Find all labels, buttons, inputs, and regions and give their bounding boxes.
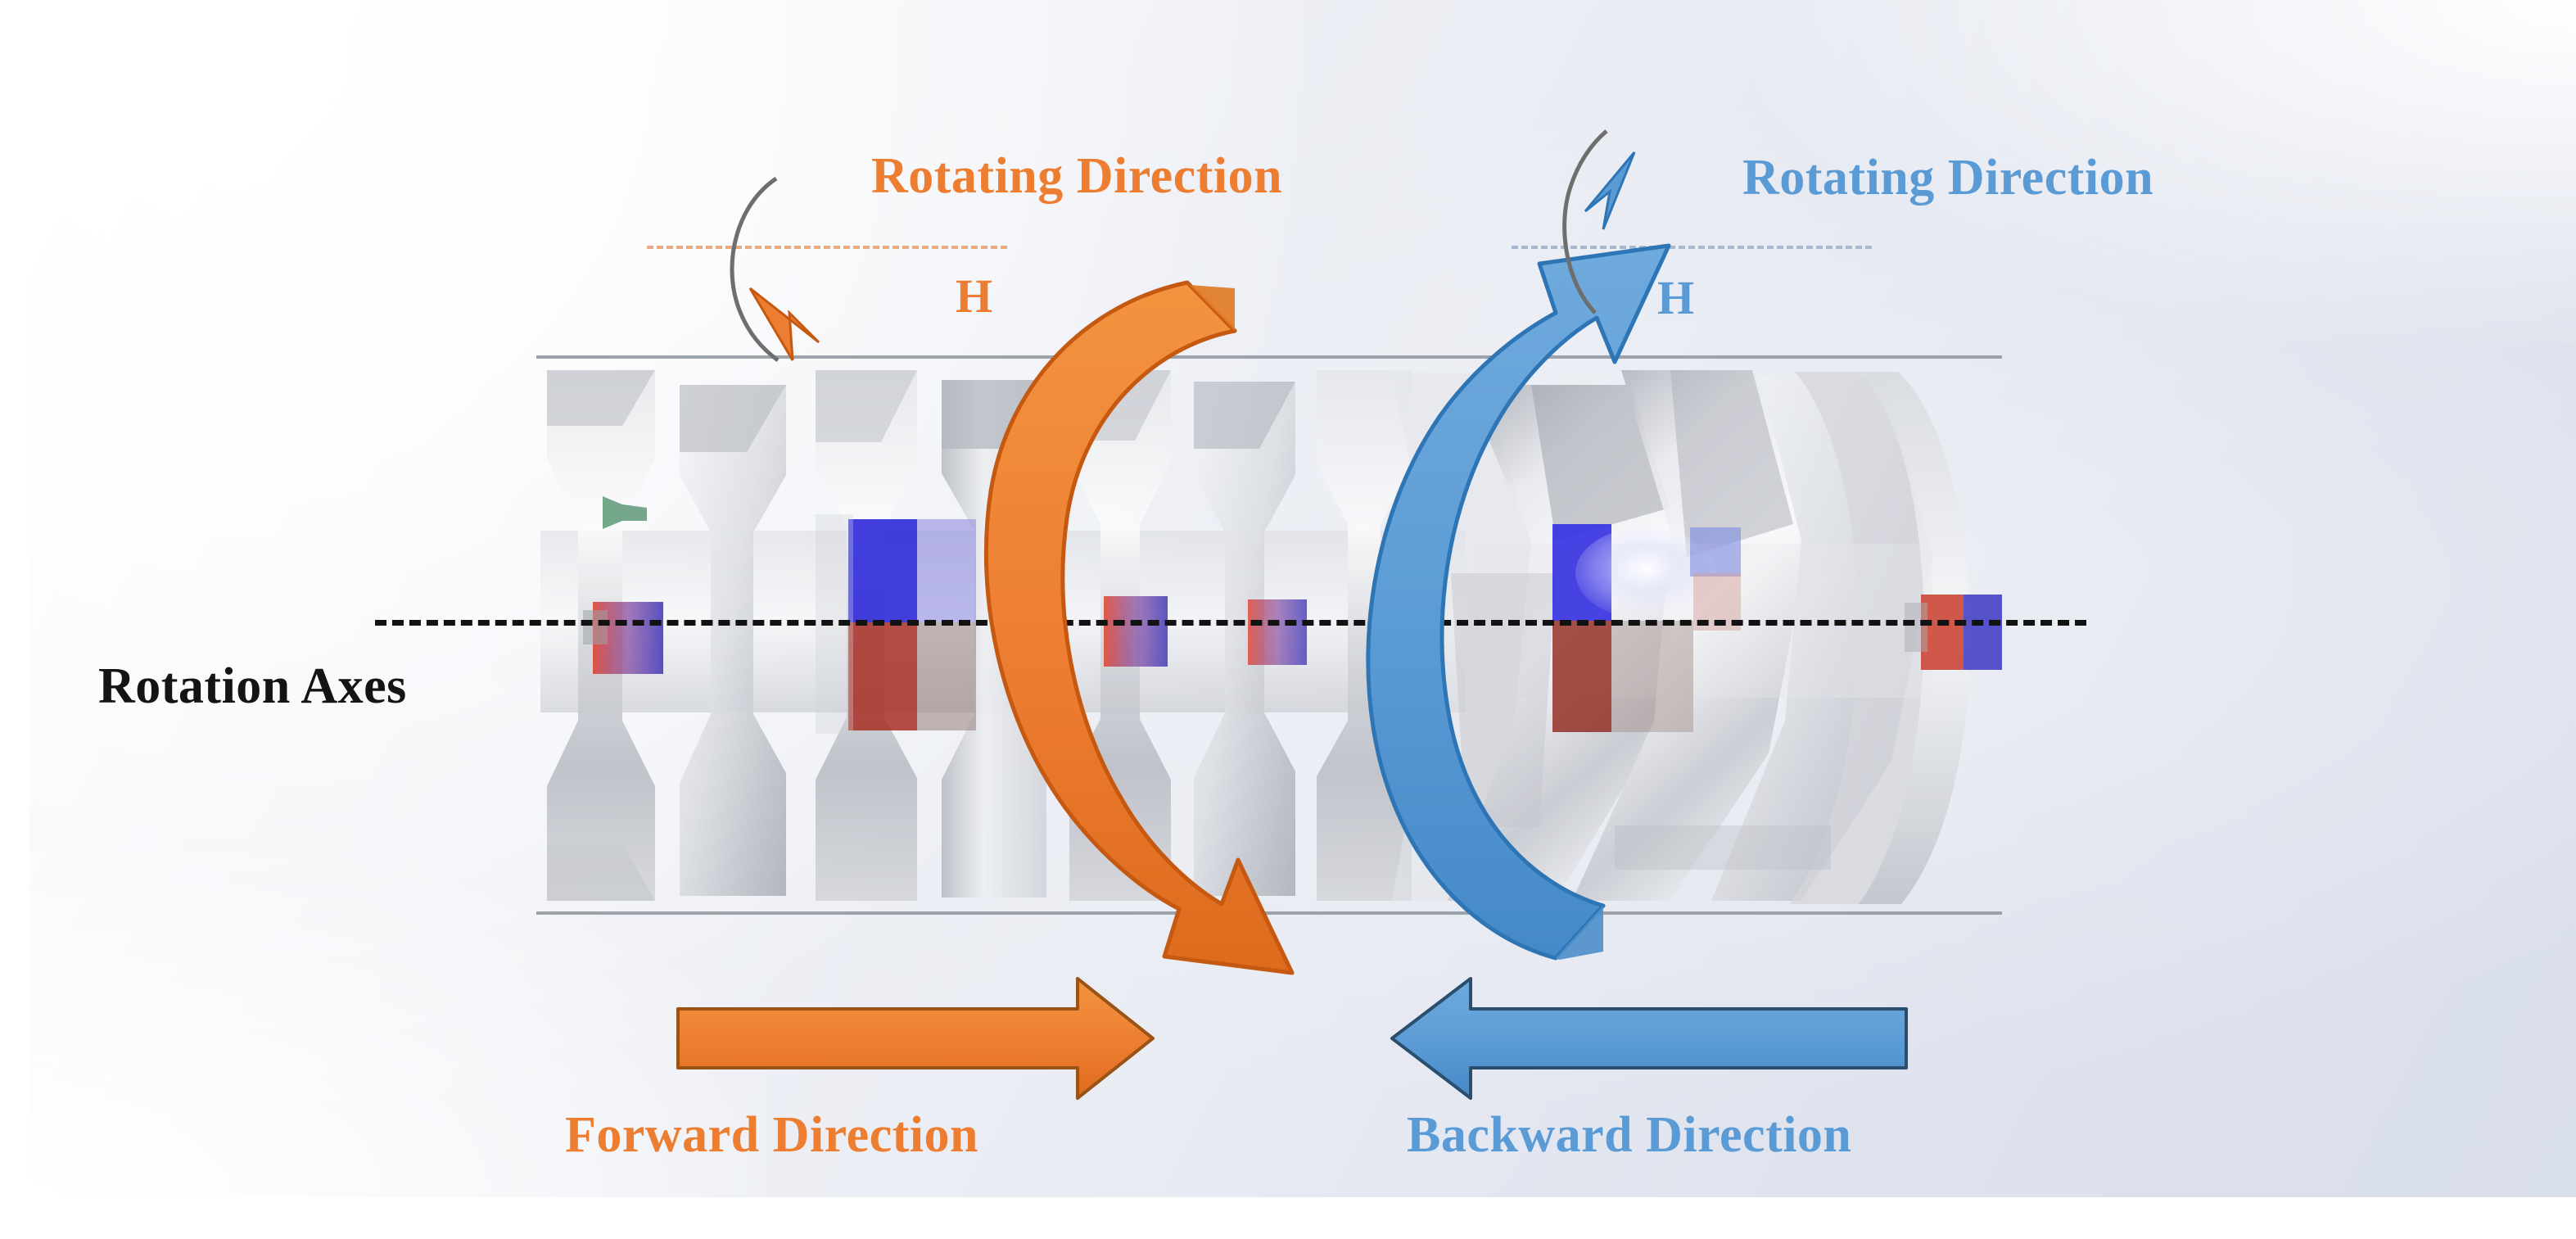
rotating-direction-label-right: Rotating Direction (1742, 149, 2153, 207)
forward-direction-label: Forward Direction (565, 1106, 978, 1164)
rotation-symbol-dash-left (647, 246, 1007, 249)
diagram-canvas: Rotating Direction Rotating Direction H … (0, 0, 2576, 1239)
rotation-axes-label: Rotation Axes (98, 658, 407, 716)
pitch-label-h-right: H (1657, 270, 1695, 325)
pitch-label-h-left: H (956, 269, 993, 323)
backward-direction-label: Backward Direction (1407, 1106, 1851, 1164)
background-panel (29, 0, 2576, 1197)
rotation-axis-dashed-line (375, 620, 2086, 626)
rotation-symbol-dash-right (1512, 246, 1872, 249)
screw-bottom-boundary-line (536, 911, 2002, 915)
rotating-direction-label-left: Rotating Direction (871, 147, 1282, 206)
screw-top-boundary-line (536, 355, 2002, 359)
